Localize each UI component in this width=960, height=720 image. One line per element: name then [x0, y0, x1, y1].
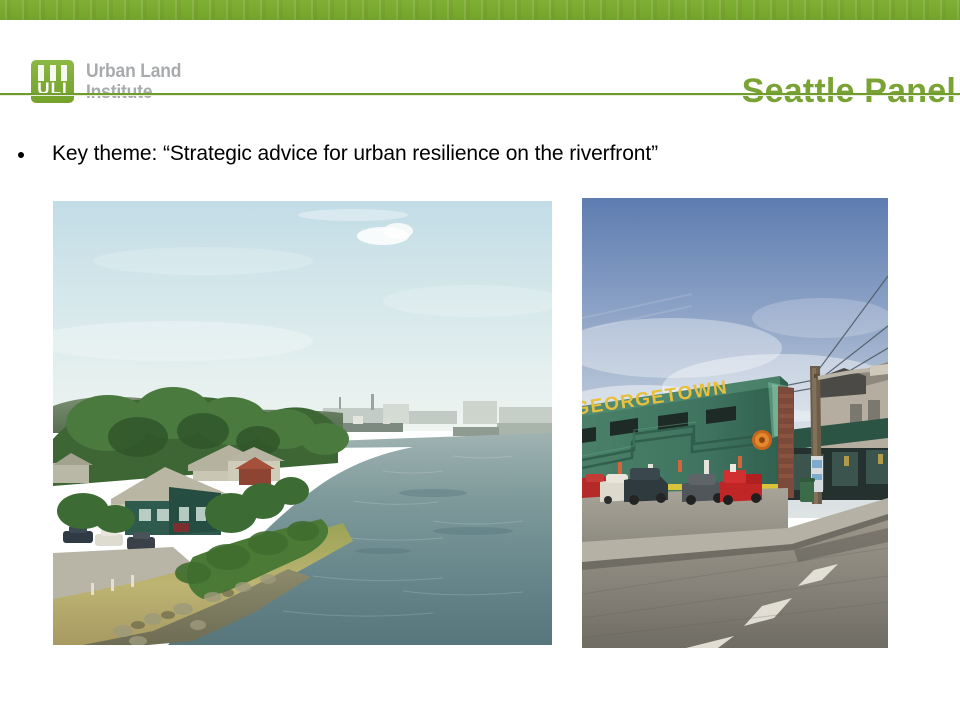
- uli-logo-wordmark: Urban Land Institute: [86, 60, 181, 103]
- riverfront-photo: [53, 201, 552, 645]
- georgetown-photo-graphic: GEORGETOWN: [582, 198, 888, 648]
- georgetown-building-photo: GEORGETOWN: [582, 198, 888, 648]
- bullet-list-item: Key theme: “Strategic advice for urban r…: [18, 141, 938, 167]
- bullet-marker-icon: [18, 152, 24, 158]
- page-title: Seattle Panel: [742, 72, 956, 110]
- slide-header: ULI Urban Land Institute Seattle Panel: [0, 20, 960, 96]
- header-divider-shadow: [0, 95, 960, 96]
- uli-logo-line1: Urban Land: [86, 61, 181, 82]
- uli-logo-mark-icon: ULI: [31, 60, 74, 103]
- riverfront-photo-graphic: [53, 201, 552, 645]
- top-green-band: [0, 0, 960, 20]
- bullet-text: Key theme: “Strategic advice for urban r…: [52, 141, 658, 167]
- uli-logo: ULI Urban Land Institute: [31, 60, 190, 103]
